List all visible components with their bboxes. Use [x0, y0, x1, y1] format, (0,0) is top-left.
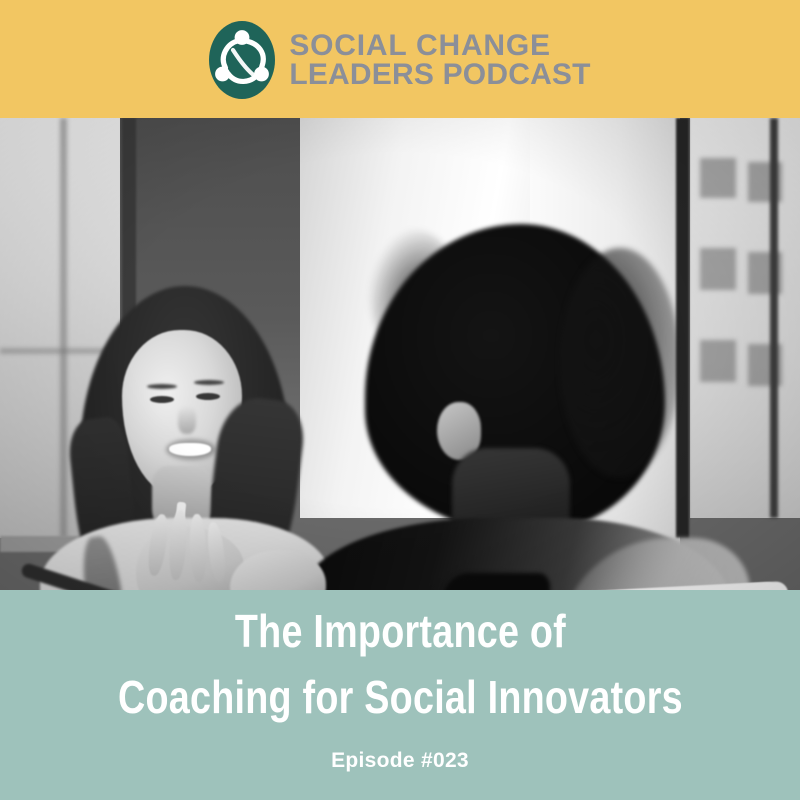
episode-number: Episode #023	[331, 749, 469, 773]
episode-title-line-1: The Importance of	[118, 604, 683, 658]
episode-title-band: The Importance of Coaching for Social In…	[0, 590, 800, 800]
episode-title-line-2: Coaching for Social Innovators	[118, 670, 683, 724]
brand-title-line-2: LEADERS PODCAST	[289, 60, 590, 89]
brand-header-band: SOCIAL CHANGE LEADERS PODCAST	[0, 0, 800, 118]
episode-photo	[0, 118, 800, 590]
brand-title-line-1: SOCIAL CHANGE	[289, 31, 590, 60]
connected-people-network-icon	[209, 20, 275, 100]
photo-vignette	[0, 118, 800, 590]
episode-title: The Importance of Coaching for Social In…	[118, 604, 683, 725]
brand-wordmark: SOCIAL CHANGE LEADERS PODCAST	[289, 31, 590, 90]
podcast-episode-cover: SOCIAL CHANGE LEADERS PODCAST	[0, 0, 800, 800]
brand-lockup: SOCIAL CHANGE LEADERS PODCAST	[209, 20, 590, 100]
